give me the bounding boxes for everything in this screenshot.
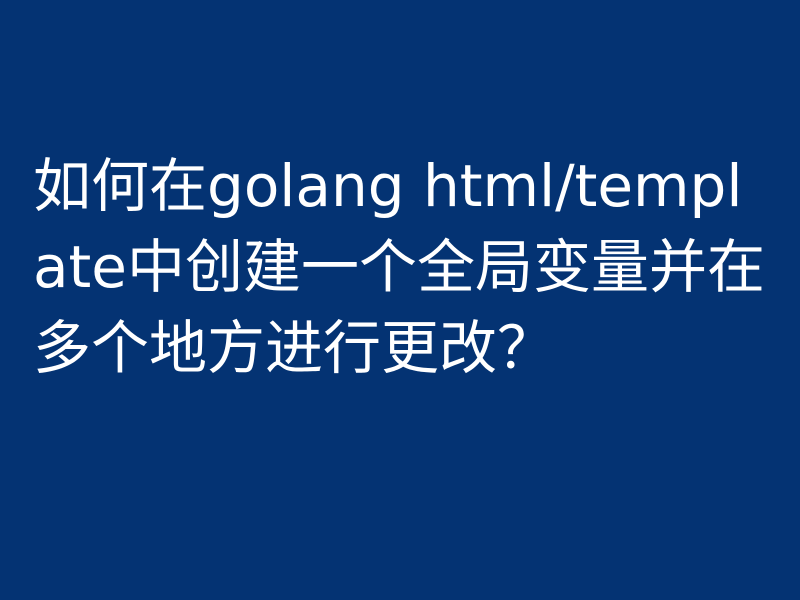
title-block: 如何在golang html/template中创建一个全局变量并在多个地方进行… (33, 146, 773, 389)
page-title: 如何在golang html/template中创建一个全局变量并在多个地方进行… (33, 146, 773, 389)
title-card: 如何在golang html/template中创建一个全局变量并在多个地方进行… (0, 0, 800, 600)
